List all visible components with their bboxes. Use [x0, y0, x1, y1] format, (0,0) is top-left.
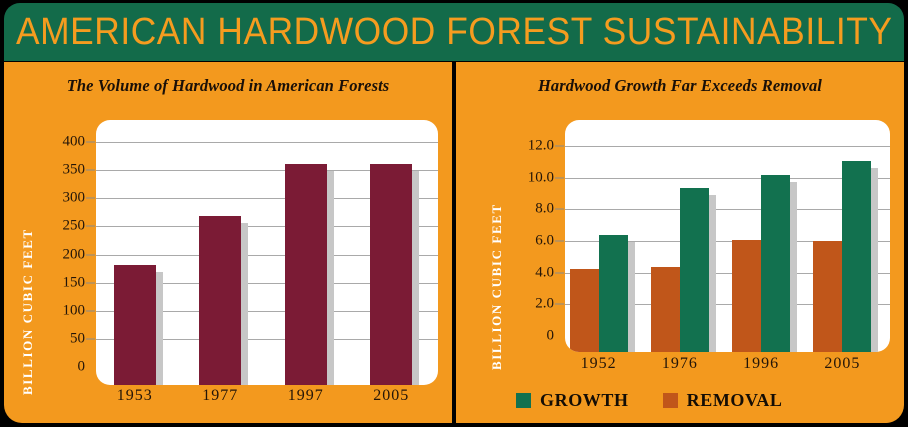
gridline	[565, 178, 890, 179]
y-tick-mark	[86, 170, 95, 171]
y-tick-label: 300	[45, 190, 85, 207]
y-tick-label: 350	[45, 162, 85, 179]
volume-chart-plot-area	[96, 120, 438, 385]
legend-label: GROWTH	[540, 390, 629, 411]
x-tick-label: 1997	[266, 387, 346, 405]
gridline	[96, 283, 438, 284]
page-title: AMERICAN HARDWOOD FOREST SUSTAINABILITY	[16, 13, 893, 51]
gridline	[565, 304, 890, 305]
y-tick-mark	[86, 226, 95, 227]
gridline	[565, 209, 890, 210]
gridline	[96, 142, 438, 143]
y-tick-label: 100	[45, 302, 85, 319]
panel-growth-removal-chart: Hardwood Growth Far Exceeds Removal BILL…	[456, 62, 904, 423]
y-tick-label: 200	[45, 246, 85, 263]
x-tick-label: 2005	[802, 355, 882, 373]
y-tick-label: 4.0	[510, 264, 554, 281]
gridline	[96, 226, 438, 227]
y-tick-label: 8.0	[510, 201, 554, 218]
x-tick-label: 1977	[180, 387, 260, 405]
infographic-root: AMERICAN HARDWOOD FOREST SUSTAINABILITY …	[0, 0, 908, 427]
gridline	[96, 311, 438, 312]
y-tick-label: 0	[510, 328, 554, 345]
growth-removal-chart-plot-area	[565, 120, 890, 352]
legend-item-removal: REMOVAL	[663, 390, 783, 411]
growth-removal-chart-gridlines	[565, 120, 890, 352]
legend-swatch-growth	[516, 393, 531, 408]
y-tick-label: 150	[45, 274, 85, 291]
y-tick-mark	[555, 241, 564, 242]
y-tick-label: 10.0	[510, 169, 554, 186]
gridline	[96, 198, 438, 199]
y-tick-label: 250	[45, 218, 85, 235]
y-tick-mark	[86, 282, 95, 283]
volume-chart-gridlines	[96, 120, 438, 385]
x-tick-label: 1952	[559, 355, 639, 373]
x-tick-label: 1976	[640, 355, 720, 373]
y-tick-mark	[555, 272, 564, 273]
growth-removal-chart-y-axis-title: BILLION CUBIC FEET	[489, 192, 505, 382]
x-tick-label: 1953	[95, 387, 175, 405]
growth-removal-chart-legend: GROWTHREMOVAL	[516, 390, 783, 411]
y-tick-label: 6.0	[510, 233, 554, 250]
y-tick-mark	[86, 198, 95, 199]
y-tick-mark	[555, 304, 564, 305]
gridline	[565, 146, 890, 147]
gridline	[565, 241, 890, 242]
y-tick-mark	[86, 338, 95, 339]
y-tick-label: 400	[45, 134, 85, 151]
y-tick-mark	[86, 310, 95, 311]
y-tick-mark	[86, 254, 95, 255]
gridline	[96, 170, 438, 171]
header-banner: AMERICAN HARDWOOD FOREST SUSTAINABILITY	[4, 3, 904, 61]
y-tick-mark	[86, 142, 95, 143]
gridline	[96, 255, 438, 256]
y-tick-mark	[555, 146, 564, 147]
gridline	[96, 339, 438, 340]
y-tick-label: 2.0	[510, 296, 554, 313]
growth-removal-chart-title: Hardwood Growth Far Exceeds Removal	[456, 76, 904, 96]
x-tick-label: 1996	[721, 355, 801, 373]
legend-swatch-removal	[663, 393, 678, 408]
legend-item-growth: GROWTH	[516, 390, 629, 411]
y-tick-label: 12.0	[510, 138, 554, 155]
volume-chart-title: The Volume of Hardwood in American Fores…	[4, 76, 452, 96]
y-tick-label: 0	[45, 359, 85, 376]
panel-volume-chart: The Volume of Hardwood in American Fores…	[4, 62, 452, 423]
volume-chart-y-axis-title: BILLION CUBIC FEET	[20, 217, 36, 407]
x-tick-label: 2005	[351, 387, 431, 405]
legend-label: REMOVAL	[687, 390, 783, 411]
y-tick-label: 50	[45, 330, 85, 347]
y-tick-mark	[555, 209, 564, 210]
y-tick-mark	[555, 177, 564, 178]
gridline	[565, 273, 890, 274]
chart-panels: The Volume of Hardwood in American Fores…	[4, 62, 904, 423]
